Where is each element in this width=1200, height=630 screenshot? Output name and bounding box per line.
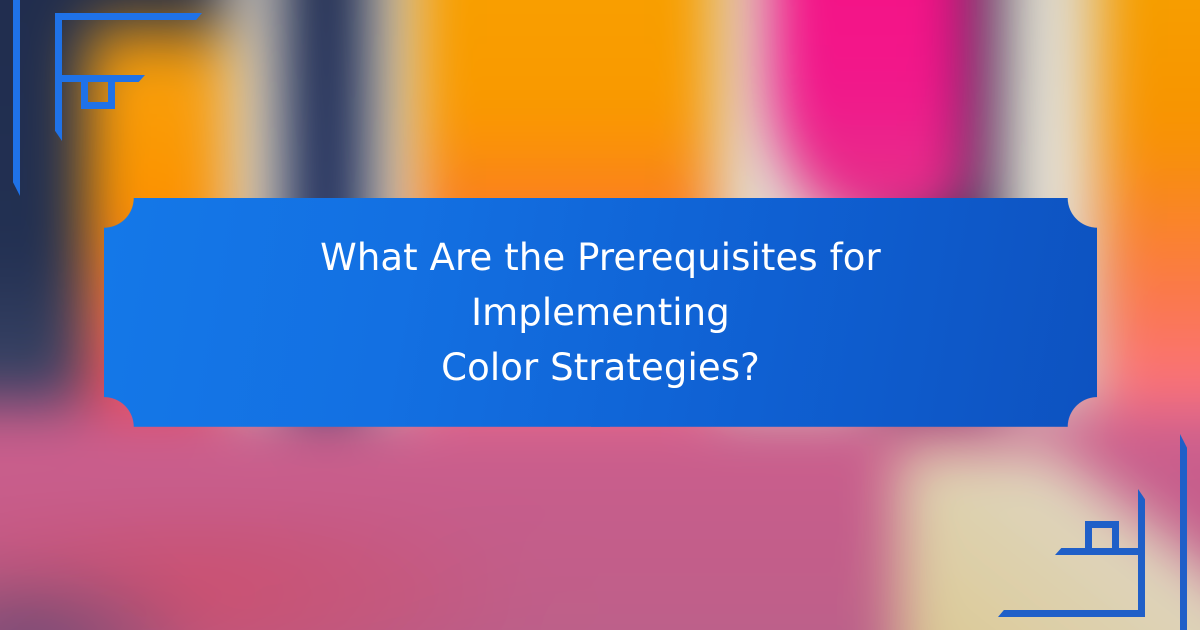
background-floor-shadow (0, 560, 208, 630)
page-title: What Are the Prerequisites for Implement… (186, 230, 1016, 395)
corner-ornament-bottom-right (970, 420, 1200, 630)
background-band-orange-panel-right (1098, 0, 1200, 446)
social-card: What Are the Prerequisites for Implement… (0, 0, 1200, 630)
corner-ornament-top-left (0, 0, 230, 210)
bracket-line-horizontal-outer (55, 13, 202, 20)
bracket-line-vertical-outer (13, 0, 20, 196)
bracket-square-icon (81, 75, 115, 109)
bracket-square-icon (1085, 521, 1119, 555)
bracket-line-horizontal-outer (998, 610, 1145, 617)
title-banner: What Are the Prerequisites for Implement… (104, 198, 1097, 427)
bracket-line-vertical-outer (1180, 434, 1187, 630)
